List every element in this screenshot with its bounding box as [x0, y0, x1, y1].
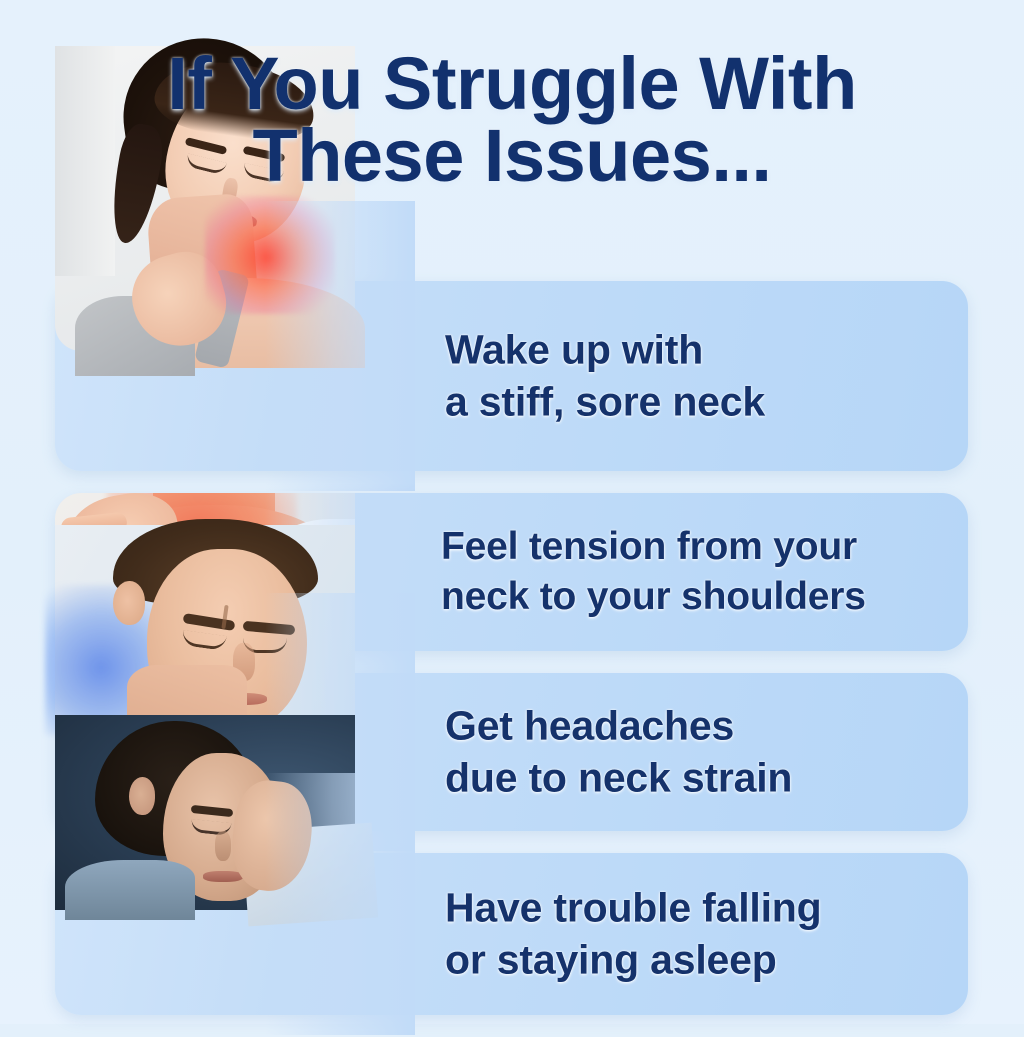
illustration-man-headache [55, 525, 355, 730]
pain-glow-red-icon [205, 196, 335, 314]
issue-photo-sleep [55, 853, 355, 1015]
issue-card-stiff-neck[interactable]: Wake up with a stiff, sore neck [55, 281, 968, 471]
issue-card-list: Wake up with a stiff, sore neck [55, 281, 968, 1037]
issue-card-label: Get headaches due to neck strain [445, 700, 928, 805]
illustration-woman-insomnia [55, 715, 355, 910]
issue-card-label: Have trouble falling or staying asleep [445, 882, 928, 987]
issue-card-label: Wake up with a stiff, sore neck [445, 324, 928, 429]
issue-photo-stiff-neck [55, 281, 355, 471]
poster-canvas: If You Struggle With These Issues... [0, 0, 1024, 1024]
issue-card-sleep[interactable]: Have trouble falling or staying asleep [55, 853, 968, 1015]
page-title: If You Struggle With These Issues... [0, 48, 1024, 192]
issue-card-label: Feel tension from your neck to your shou… [441, 522, 928, 622]
